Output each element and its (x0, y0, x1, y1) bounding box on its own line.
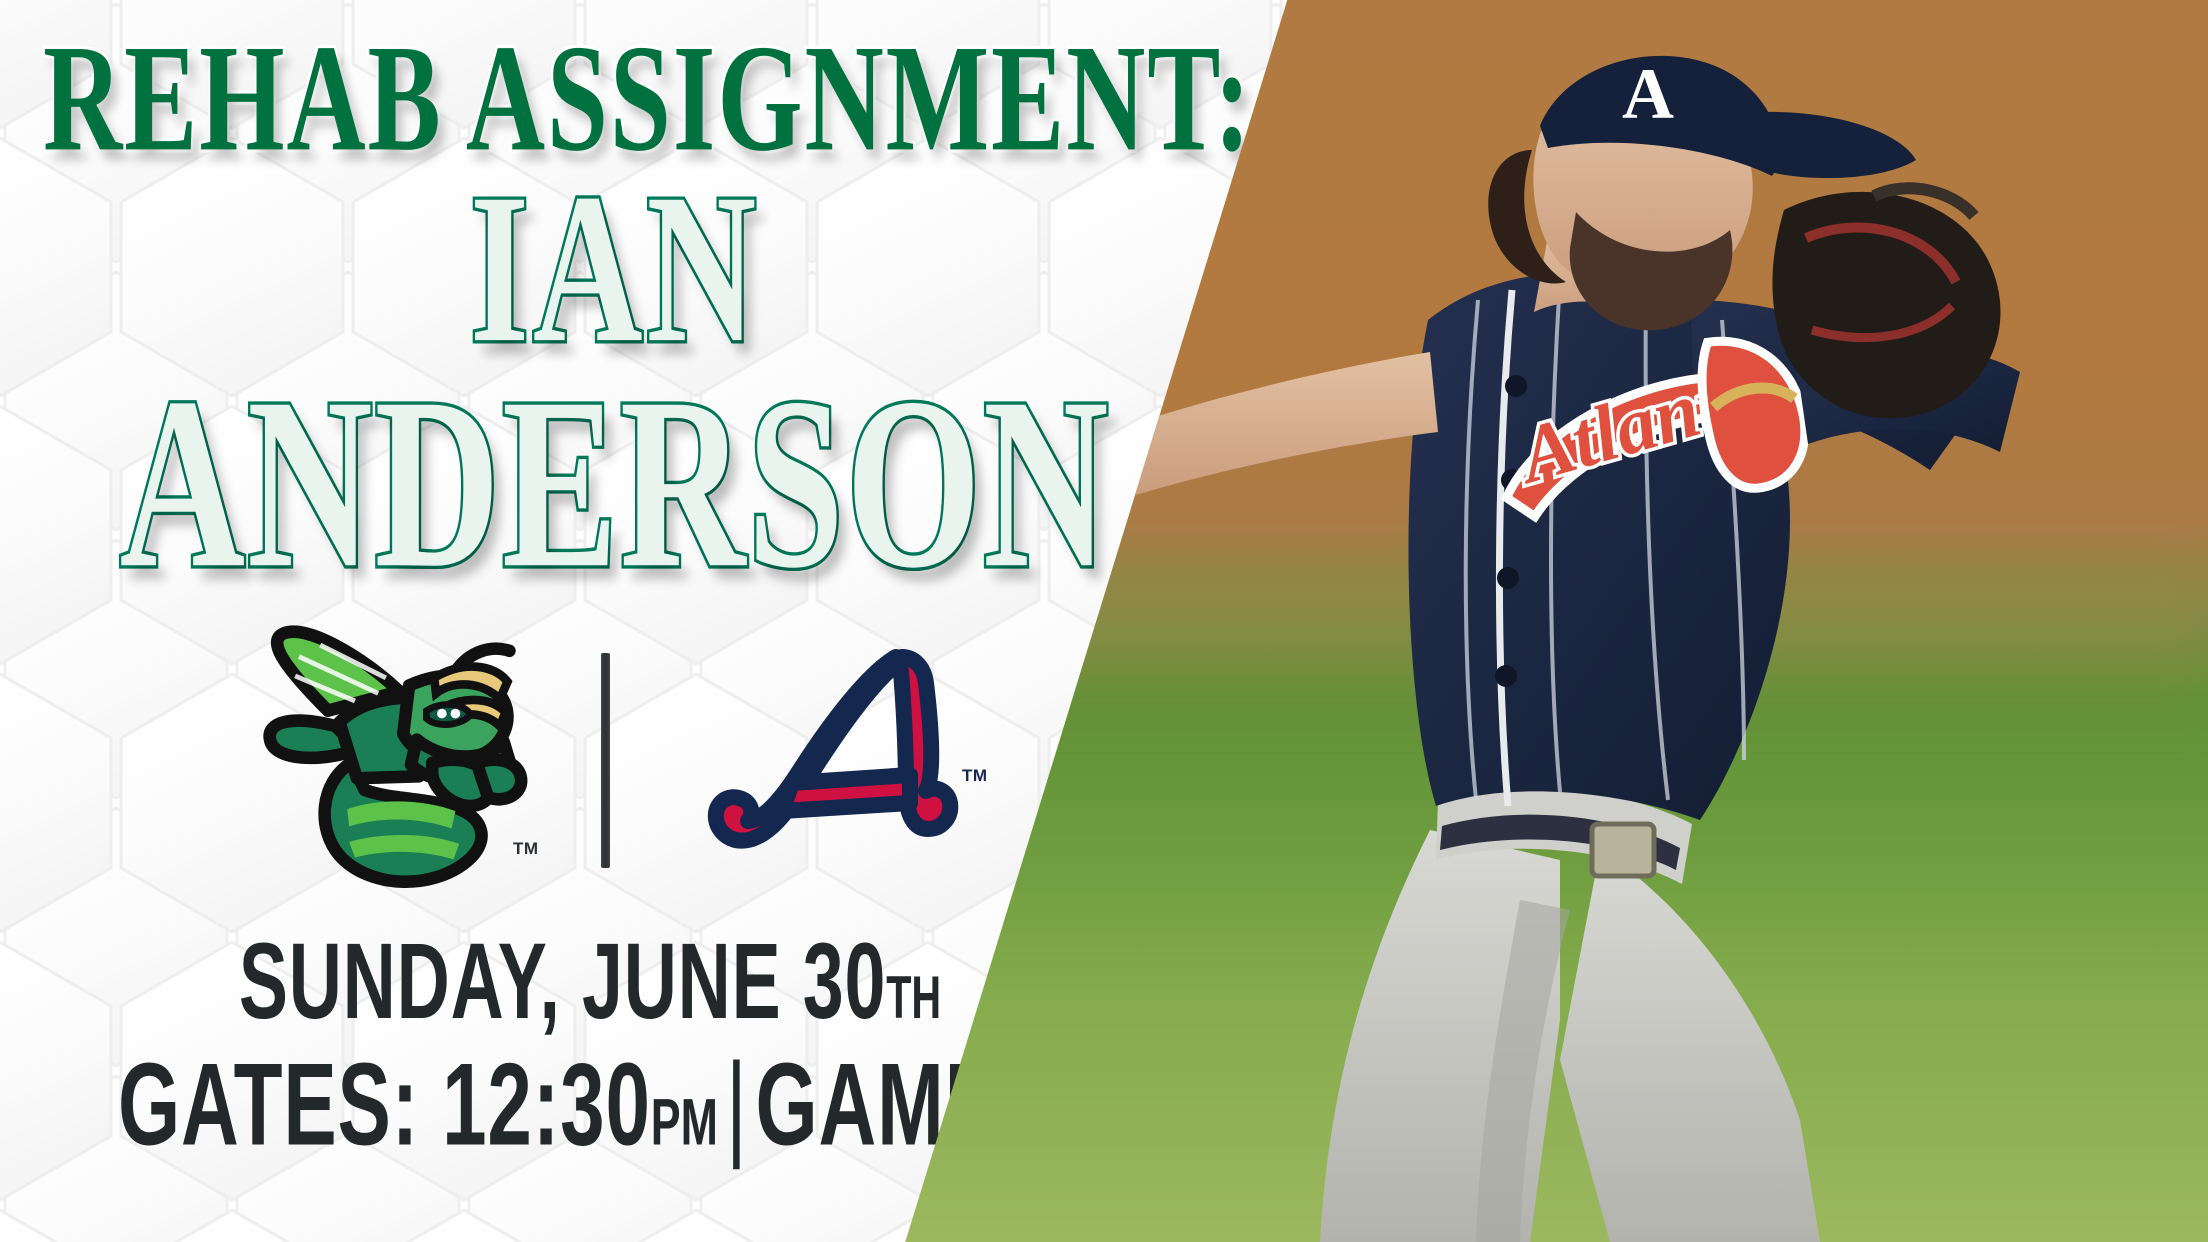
player-first-name: IAN (31, 170, 1200, 367)
away-team-logo-container: TM (674, 633, 974, 888)
event-date-text: SUNDAY, JUNE 30 (239, 922, 886, 1041)
away-logo-trademark: TM (962, 766, 988, 786)
home-logo-trademark: TM (513, 839, 539, 859)
event-date-suffix: TH (886, 963, 941, 1031)
matchup-logo-row: TM TM (0, 615, 1200, 905)
greenjackets-hornet-icon (227, 618, 537, 898)
home-team-logo-container: TM (227, 618, 537, 903)
event-date-line: SUNDAY, JUNE 30TH (118, 928, 1062, 1036)
time-separator: | (718, 1039, 756, 1170)
player-last-name: ANDERSON (31, 371, 1200, 597)
rehab-assignment-graphic: REHAB ASSIGNMENT: IAN ANDERSON (0, 0, 2208, 1242)
braves-script-a-icon (674, 633, 974, 883)
gates-time: 12:30 (442, 1039, 651, 1170)
svg-text:A: A (1622, 54, 1674, 134)
gates-meridiem: PM (651, 1085, 718, 1159)
gates-label: GATES: (118, 1039, 442, 1170)
player-name-block: IAN ANDERSON (0, 170, 1230, 540)
logo-divider (601, 653, 610, 868)
event-time-line: GATES: 12:30PM|GAME: 1:35PM (118, 1046, 1062, 1163)
